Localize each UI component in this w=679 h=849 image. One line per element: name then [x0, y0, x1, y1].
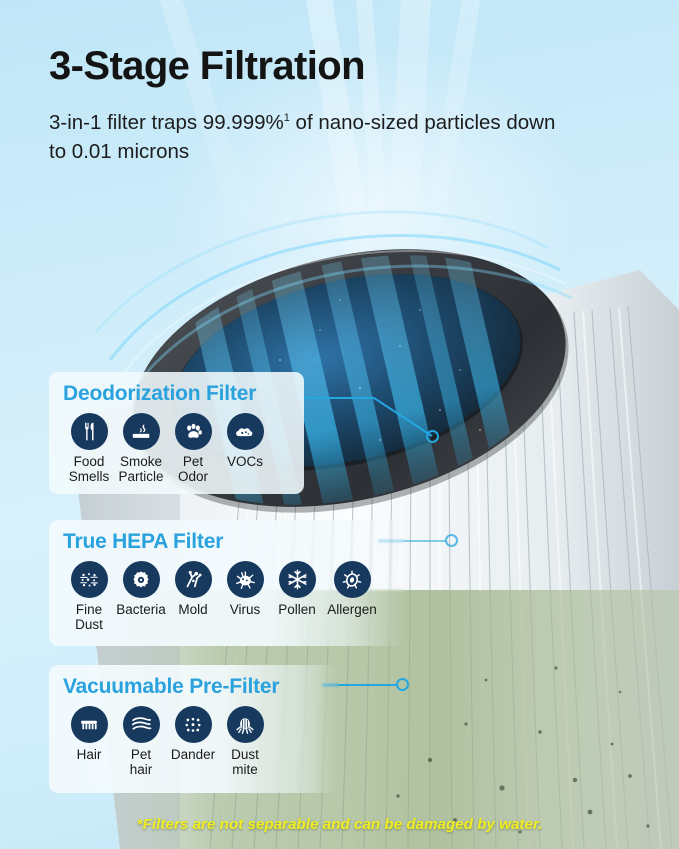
feature-label: Bacteria — [116, 602, 166, 617]
feature-label: Dust mite — [231, 747, 259, 777]
feature-vocs: VOCs — [219, 413, 271, 469]
feature-pollen: Pollen — [271, 561, 323, 617]
feature-label: Dander — [171, 747, 215, 762]
card-title-deodorization: Deodorization Filter — [63, 382, 292, 406]
page-subtitle: 3-in-1 filter traps 99.999%1 of nano-siz… — [49, 108, 569, 166]
comb-icon — [71, 706, 108, 743]
feature-smoke-particle: Smoke Particle — [115, 413, 167, 484]
feature-pet-odor: Pet Odor — [167, 413, 219, 484]
cigarette-icon — [123, 413, 160, 450]
feature-label: VOCs — [227, 454, 263, 469]
icon-row-pre-filter: Hair Pet hair — [63, 706, 327, 777]
feature-fine-dust: Fine Dust — [63, 561, 115, 632]
card-true-hepa: True HEPA Filter Fine Dust — [49, 520, 404, 646]
card-pre-filter: Vacuumable Pre-Filter Hair — [49, 665, 339, 793]
feature-label: Hair — [77, 747, 102, 762]
feature-pet-hair: Pet hair — [115, 706, 167, 777]
cloud-icon — [227, 413, 264, 450]
allergen-icon — [334, 561, 371, 598]
card-title-true-hepa: True HEPA Filter — [63, 530, 392, 554]
card-deodorization: Deodorization Filter Food Smells — [49, 372, 304, 494]
callout-marker-deodorization — [426, 430, 439, 443]
feature-label: Pollen — [278, 602, 316, 617]
page-title: 3-Stage Filtration — [49, 44, 365, 89]
bacteria-icon — [123, 561, 160, 598]
feature-hair: Hair — [63, 706, 115, 762]
feature-label: Pet hair — [130, 747, 153, 777]
feature-label: Pet Odor — [178, 454, 208, 484]
pollen-icon — [279, 561, 316, 598]
feature-label: Food Smells — [69, 454, 110, 484]
mold-icon — [175, 561, 212, 598]
paw-icon — [175, 413, 212, 450]
icon-row-true-hepa: Fine Dust Bacteria — [63, 561, 392, 632]
feature-dander: Dander — [167, 706, 219, 762]
feature-label: Allergen — [327, 602, 377, 617]
fine-dust-icon — [71, 561, 108, 598]
infographic-root: 3-Stage Filtration 3-in-1 filter traps 9… — [0, 0, 679, 849]
utensils-icon — [71, 413, 108, 450]
feature-virus: Virus — [219, 561, 271, 617]
card-title-pre-filter: Vacuumable Pre-Filter — [63, 675, 327, 699]
feature-label: Mold — [178, 602, 207, 617]
footnote-text: *Filters are not separable and can be da… — [0, 816, 679, 833]
callout-marker-hepa — [445, 534, 458, 547]
feature-bacteria: Bacteria — [115, 561, 167, 617]
feature-food-smells: Food Smells — [63, 413, 115, 484]
virus-icon — [227, 561, 264, 598]
feature-allergen: Allergen — [323, 561, 381, 617]
feature-label: Smoke Particle — [118, 454, 163, 484]
feature-mold: Mold — [167, 561, 219, 617]
dust-mite-icon — [227, 706, 264, 743]
feature-label: Virus — [230, 602, 261, 617]
feature-label: Fine Dust — [75, 602, 103, 632]
subtitle-part-1: 3-in-1 filter traps 99.999% — [49, 111, 284, 134]
feature-dust-mite: Dust mite — [219, 706, 271, 777]
callout-marker-prefilter — [396, 678, 409, 691]
pet-hair-icon — [123, 706, 160, 743]
dander-dots-icon — [175, 706, 212, 743]
icon-row-deodorization: Food Smells Smoke Particle — [63, 413, 292, 484]
